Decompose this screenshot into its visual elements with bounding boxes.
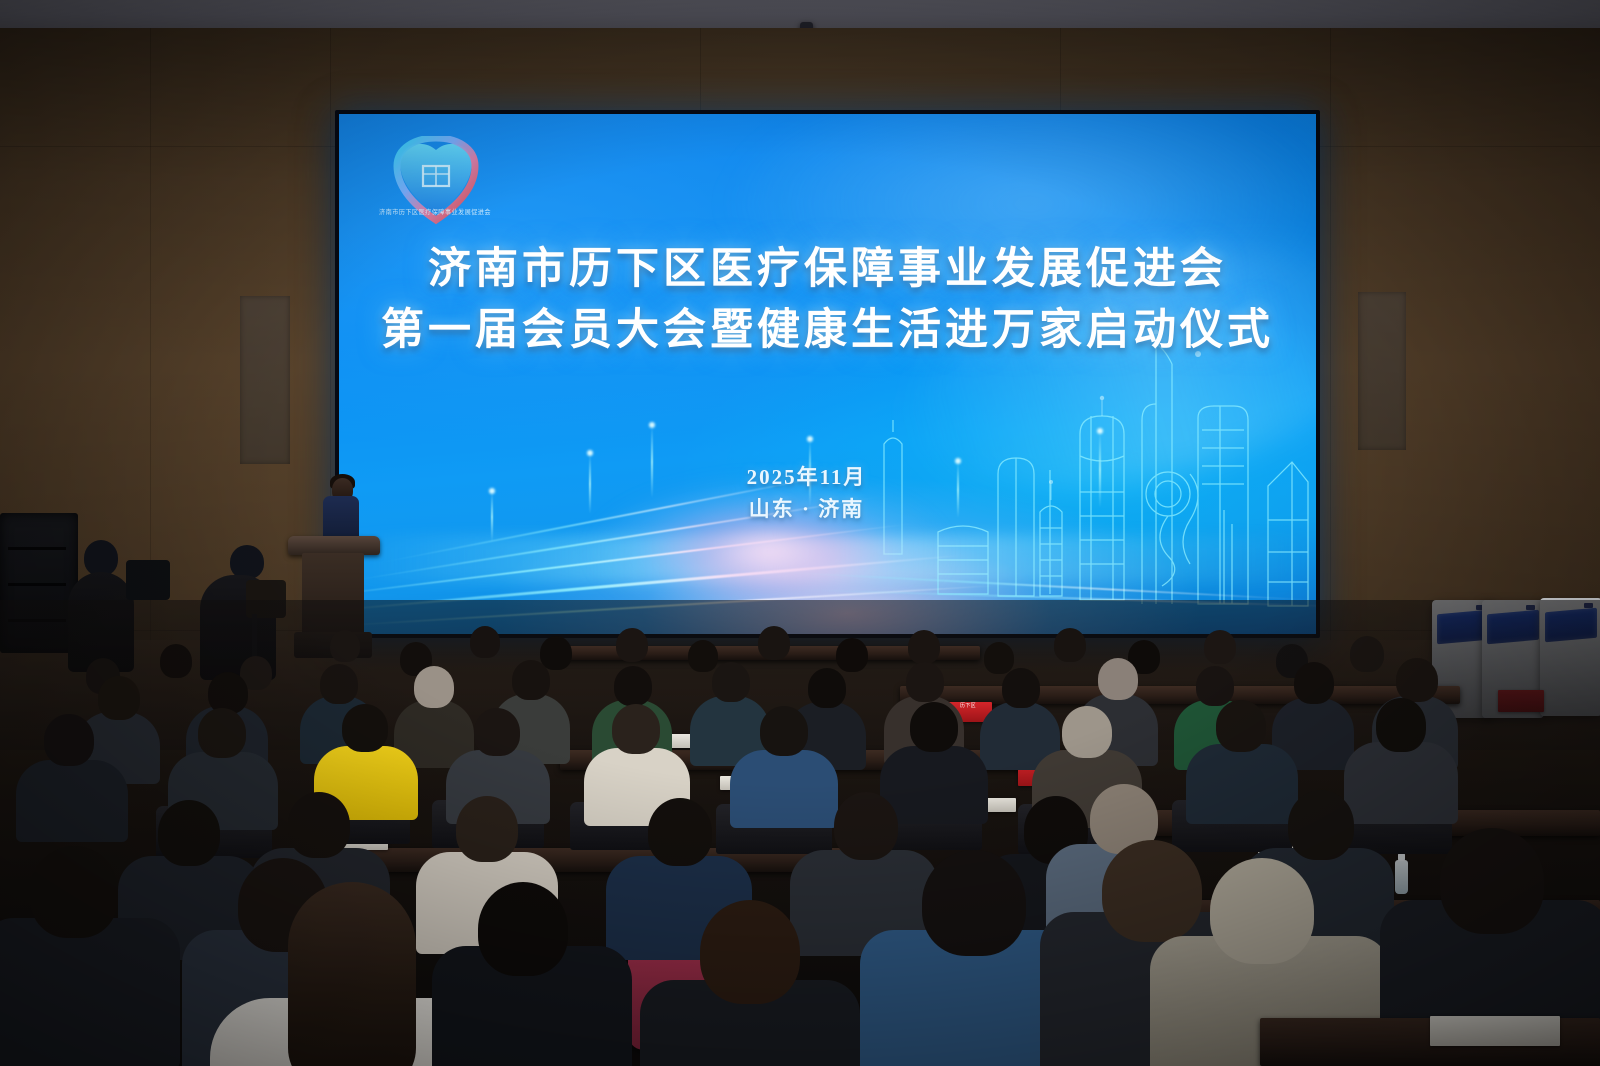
camera-operator-1 bbox=[84, 540, 118, 576]
attendee-torso bbox=[0, 918, 180, 1066]
organization-logo bbox=[375, 136, 497, 236]
attendee-head bbox=[614, 666, 652, 706]
attendee-head bbox=[1350, 636, 1384, 672]
foreground-attendee-hair bbox=[288, 882, 416, 1066]
wall-panel-left bbox=[240, 296, 290, 464]
attendee-torso bbox=[730, 750, 838, 828]
attendee-torso bbox=[1186, 744, 1298, 824]
attendee-head bbox=[478, 882, 568, 976]
attendee-head bbox=[44, 714, 94, 766]
attendee-head bbox=[288, 792, 350, 858]
conference-hall-scene: 济南市历下区医疗保障事业发展促进会 济南市历下区医疗保障事业发展促进会 第一届会… bbox=[0, 0, 1600, 1066]
water-bottle bbox=[1395, 860, 1408, 894]
attendee-head bbox=[1196, 666, 1234, 706]
attendee-head bbox=[922, 850, 1026, 956]
screen-subtitle-location: 山东 · 济南 bbox=[339, 494, 1274, 526]
wall-panel-right bbox=[1358, 292, 1406, 450]
camera-rig-1 bbox=[126, 560, 170, 600]
attendee-head bbox=[1002, 668, 1040, 708]
attendee-head bbox=[30, 846, 118, 938]
attendee-torso bbox=[1344, 742, 1458, 824]
attendee-head bbox=[198, 708, 246, 758]
attendee-head bbox=[414, 666, 454, 708]
attendee-head bbox=[648, 798, 712, 866]
attendee-head bbox=[712, 662, 750, 702]
attendee-head bbox=[616, 628, 648, 662]
attendee-head bbox=[512, 660, 550, 700]
attendee-head bbox=[470, 626, 500, 658]
attendee-head bbox=[1376, 698, 1426, 752]
screen-subtitle-block: 2025年11月 山东 · 济南 bbox=[339, 462, 1316, 525]
attendee-head bbox=[700, 900, 800, 1004]
attendee-head bbox=[160, 644, 192, 678]
attendee-head bbox=[1102, 840, 1202, 942]
logo-caption: 济南市历下区医疗保障事业发展促进会 bbox=[359, 207, 511, 216]
attendee-head bbox=[1204, 630, 1236, 664]
attendee-head bbox=[98, 676, 140, 720]
screen-subtitle-date: 2025年11月 bbox=[339, 462, 1274, 494]
attendee-head bbox=[760, 706, 808, 756]
attendee-head bbox=[456, 796, 518, 862]
attendee-head bbox=[330, 630, 360, 662]
attendee-head bbox=[758, 626, 790, 660]
attendee-head bbox=[1210, 858, 1314, 964]
attendee-head bbox=[910, 702, 958, 752]
attendee-head bbox=[1098, 658, 1138, 700]
attendee-torso bbox=[880, 746, 988, 824]
attendee-head bbox=[208, 672, 248, 714]
attendee-head bbox=[540, 636, 572, 670]
attendee-head bbox=[688, 640, 718, 672]
attendee-head bbox=[1396, 658, 1438, 702]
led-screen: 济南市历下区医疗保障事业发展促进会 济南市历下区医疗保障事业发展促进会 第一届会… bbox=[339, 114, 1316, 634]
led-screen-frame: 济南市历下区医疗保障事业发展促进会 济南市历下区医疗保障事业发展促进会 第一届会… bbox=[335, 110, 1320, 638]
screen-title-line-2: 第一届会员大会暨健康生活进万家启动仪式 bbox=[339, 305, 1316, 357]
attendee-head bbox=[1440, 828, 1544, 934]
attendee-head bbox=[984, 642, 1014, 674]
camera-operator-2 bbox=[230, 545, 264, 579]
attendee-head bbox=[1216, 700, 1266, 752]
attendee-head bbox=[1054, 628, 1086, 662]
attendee-head bbox=[808, 668, 846, 708]
attendee-head bbox=[908, 630, 940, 664]
attendee-head bbox=[320, 664, 358, 704]
attendee-head bbox=[612, 704, 660, 754]
attendee-head bbox=[342, 704, 388, 752]
attendee-head bbox=[836, 638, 868, 672]
document-paper bbox=[1430, 1016, 1560, 1046]
attendee-torso bbox=[16, 760, 128, 842]
attendee-head bbox=[474, 708, 520, 756]
audience-area: 历下区 千佛山 bbox=[0, 600, 1600, 1066]
attendee-head bbox=[1062, 706, 1112, 758]
attendee-head bbox=[1288, 790, 1354, 860]
attendee-head bbox=[158, 800, 220, 866]
attendee-head bbox=[1294, 662, 1334, 704]
screen-title-line-1: 济南市历下区医疗保障事业发展促进会 bbox=[339, 244, 1316, 296]
attendee-head bbox=[906, 662, 944, 702]
attendee-head bbox=[834, 792, 898, 860]
screen-title-block: 济南市历下区医疗保障事业发展促进会 第一届会员大会暨健康生活进万家启动仪式 bbox=[339, 244, 1316, 358]
